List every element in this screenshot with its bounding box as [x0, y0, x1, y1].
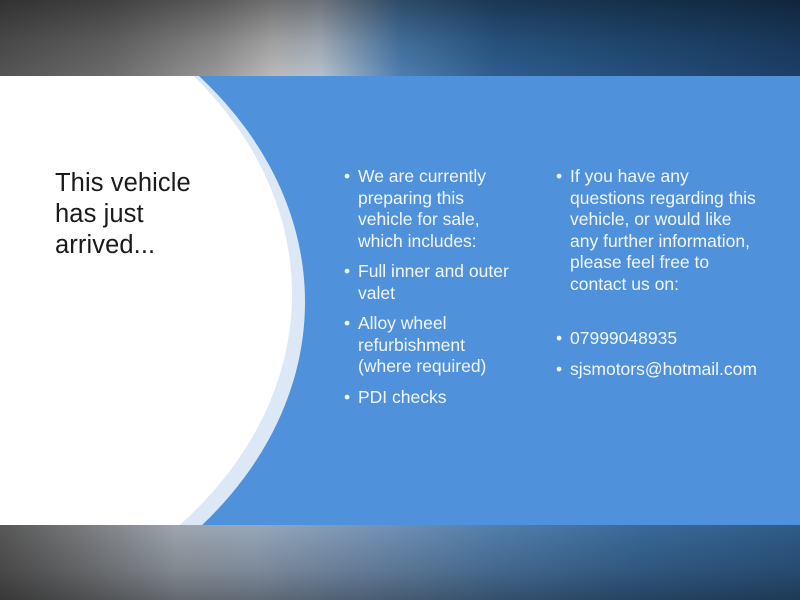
bullet-dot-icon: • — [556, 328, 570, 350]
slide-viewer: This vehicle has just arrived... • We ar… — [0, 0, 800, 600]
bullet-dot-icon: • — [556, 166, 570, 188]
list-item-label: If you have any questions regarding this… — [570, 166, 756, 295]
letterbox-top-band — [0, 0, 800, 76]
list-item-phone[interactable]: • 07999048935 — [556, 328, 756, 350]
slide-title: This vehicle has just arrived... — [55, 168, 250, 261]
list-item: • Alloy wheel refurbishment (where requi… — [344, 313, 519, 378]
bullet-dot-icon: • — [344, 313, 358, 335]
list-item: • We are currently preparing this vehicl… — [344, 166, 519, 252]
title-line-2: has just — [55, 199, 250, 230]
list-item-label: We are currently preparing this vehicle … — [358, 166, 519, 252]
bullet-dot-icon: • — [344, 261, 358, 283]
services-bullet-list: • We are currently preparing this vehicl… — [344, 166, 519, 417]
slide-canvas: This vehicle has just arrived... • We ar… — [0, 76, 800, 525]
letterbox-bottom-band — [0, 525, 800, 600]
list-item: • Full inner and outer valet — [344, 261, 519, 304]
list-item: • If you have any questions regarding th… — [556, 166, 756, 295]
bullet-dot-icon: • — [344, 166, 358, 188]
bullet-dot-icon: • — [556, 359, 570, 381]
list-item-label: Alloy wheel refurbishment (where require… — [358, 313, 519, 378]
contact-bullet-list: • If you have any questions regarding th… — [556, 166, 756, 389]
list-item-label: Full inner and outer valet — [358, 261, 519, 304]
email-address[interactable]: sjsmotors@hotmail.com — [570, 359, 757, 381]
phone-number[interactable]: 07999048935 — [570, 328, 756, 350]
list-item-email[interactable]: • sjsmotors@hotmail.com — [556, 359, 756, 381]
title-line-3: arrived... — [55, 230, 250, 261]
list-item-label: PDI checks — [358, 387, 519, 409]
list-item: • PDI checks — [344, 387, 519, 409]
title-line-1: This vehicle — [55, 168, 250, 199]
bullet-dot-icon: • — [344, 387, 358, 409]
